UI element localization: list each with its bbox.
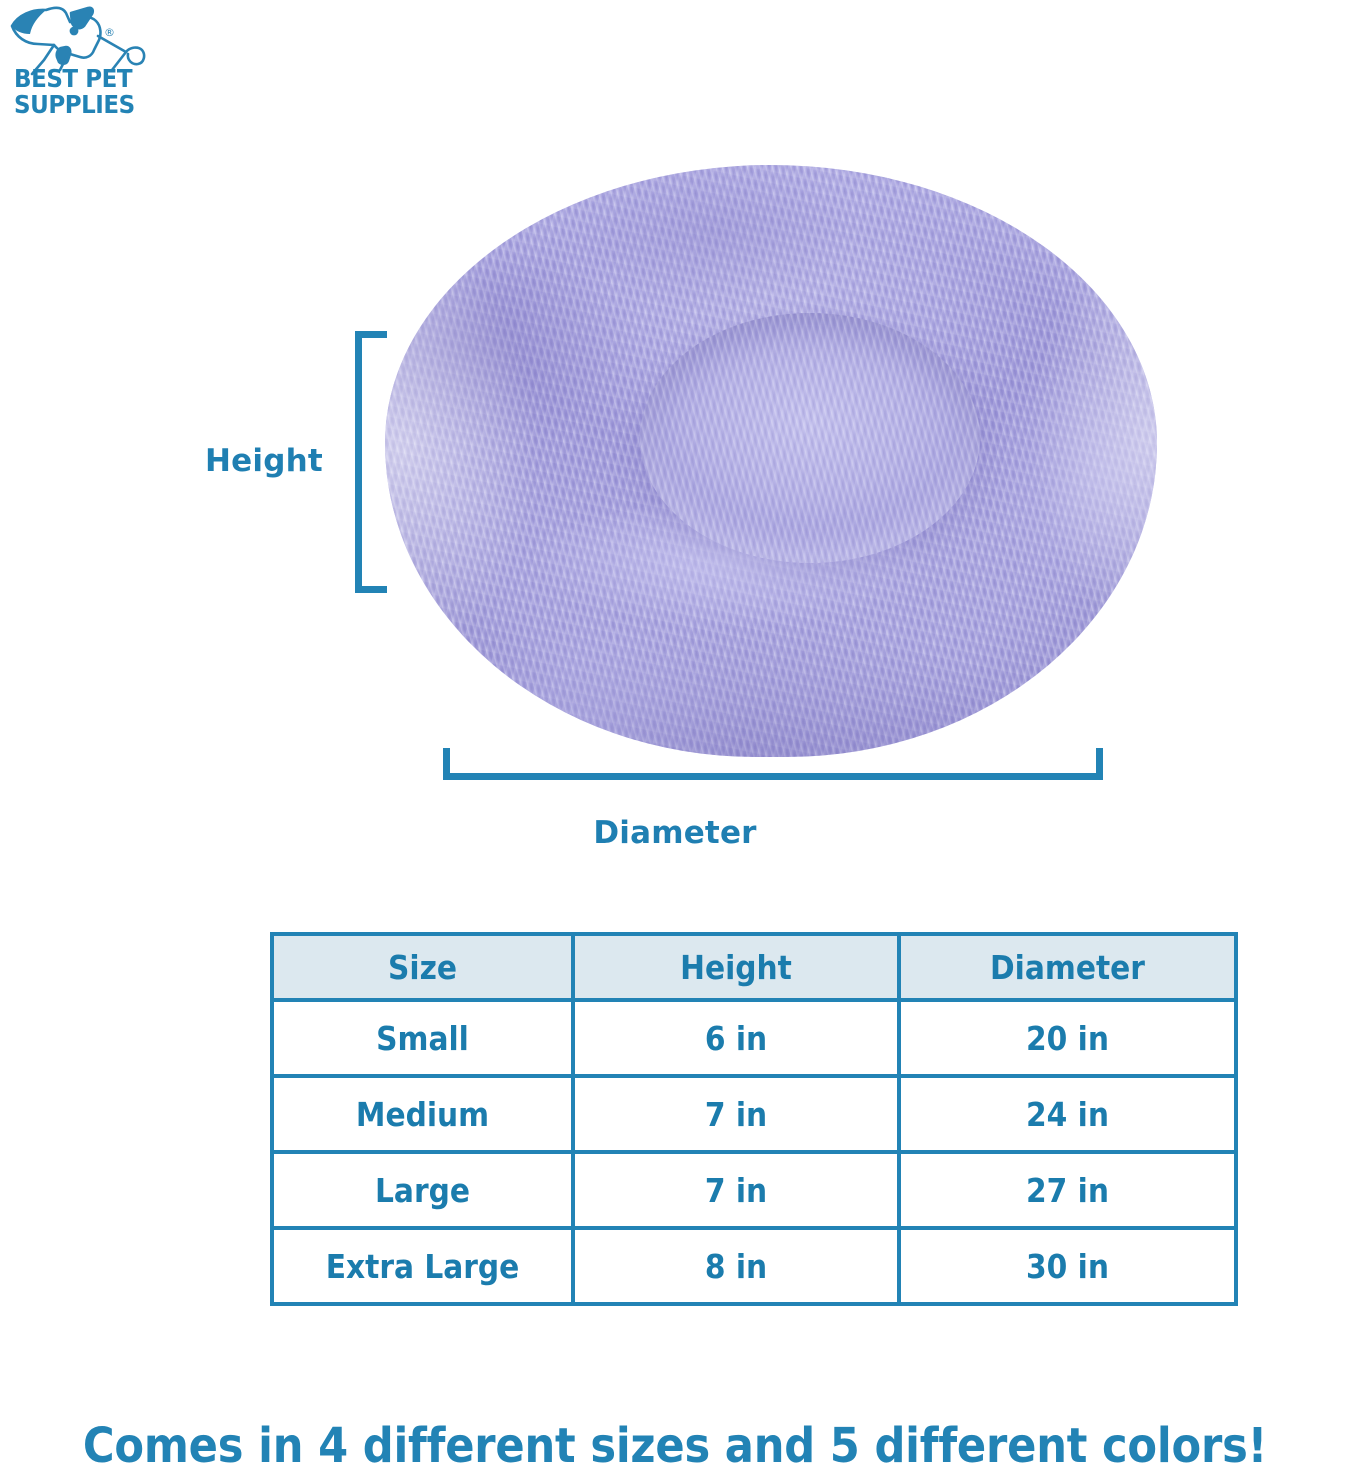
cell-height: 7 in — [573, 1076, 899, 1152]
cell-height: 6 in — [573, 1000, 899, 1076]
table-row: Medium 7 in 24 in — [272, 1076, 1236, 1152]
cell-diameter: 27 in — [899, 1152, 1236, 1228]
diameter-bracket-icon — [443, 748, 1103, 780]
cell-diameter: 20 in — [899, 1000, 1236, 1076]
bed-inner-cushion — [640, 313, 980, 563]
table-row: Extra Large 8 in 30 in — [272, 1228, 1236, 1304]
column-header-diameter: Diameter — [899, 934, 1236, 1000]
table-row: Small 6 in 20 in — [272, 1000, 1236, 1076]
height-label: Height — [205, 443, 323, 479]
height-bracket-icon — [355, 331, 387, 593]
cell-size: Extra Large — [272, 1228, 573, 1304]
cell-size: Medium — [272, 1076, 573, 1152]
brand-wordmark: BEST PET SUPPLIES — [14, 66, 152, 118]
product-image-donut-pet-bed — [380, 160, 1160, 760]
brand-logo: ® BEST PET SUPPLIES — [8, 4, 168, 129]
cell-height: 7 in — [573, 1152, 899, 1228]
brand-wordmark-line1: BEST PET — [14, 66, 152, 92]
column-header-height: Height — [573, 934, 899, 1000]
table-header-row: Size Height Diameter — [272, 934, 1236, 1000]
fur-texture-layer — [640, 313, 980, 563]
cell-diameter: 30 in — [899, 1228, 1236, 1304]
size-chart-table: Size Height Diameter Small 6 in 20 in Me… — [270, 932, 1238, 1306]
cell-diameter: 24 in — [899, 1076, 1236, 1152]
bed-outer-bolster — [385, 165, 1157, 757]
footer-tagline: Comes in 4 different sizes and 5 differe… — [0, 1418, 1350, 1474]
brand-wordmark-line2: SUPPLIES — [14, 92, 152, 118]
diameter-label: Diameter — [0, 815, 1350, 851]
registered-trademark-symbol: ® — [104, 26, 115, 39]
cell-size: Large — [272, 1152, 573, 1228]
fur-texture-layer — [640, 313, 980, 563]
table-row: Large 7 in 27 in — [272, 1152, 1236, 1228]
column-header-size: Size — [272, 934, 573, 1000]
cell-height: 8 in — [573, 1228, 899, 1304]
cell-size: Small — [272, 1000, 573, 1076]
